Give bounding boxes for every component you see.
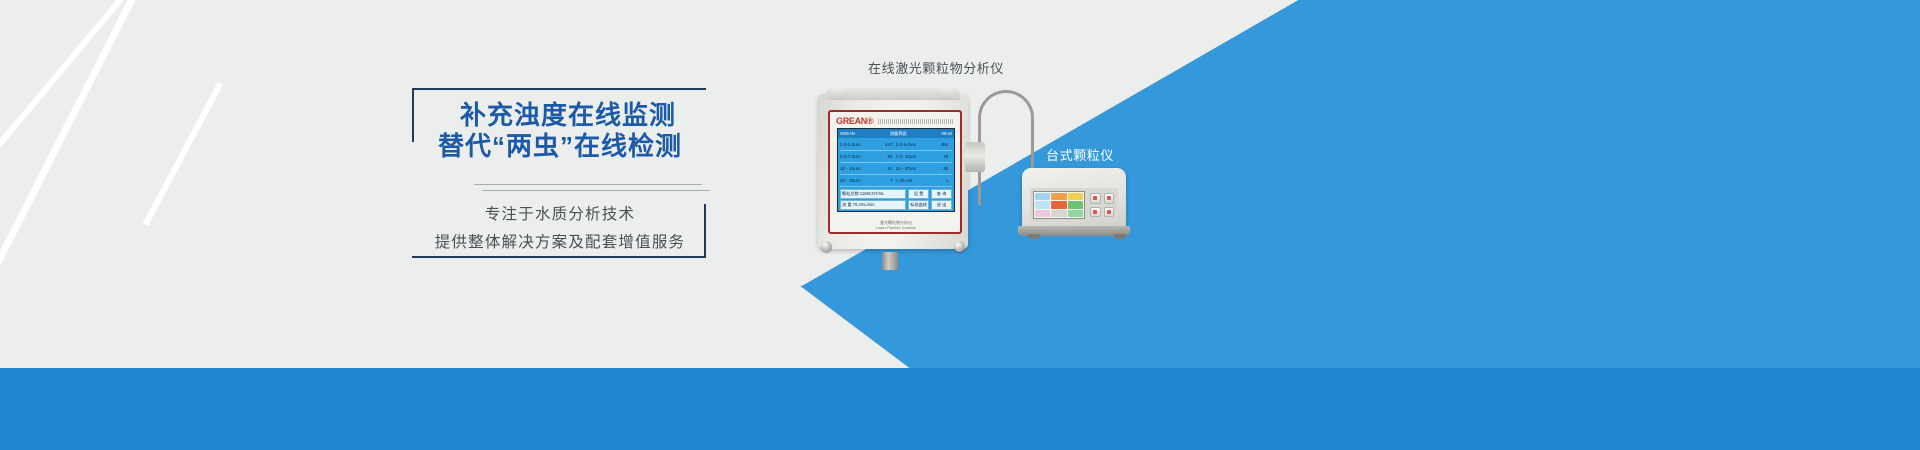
bench-screen-cell xyxy=(1068,201,1083,208)
total-count-readout: 颗粒总数:1166CNT/mL xyxy=(840,189,906,199)
cell-count-a: 447 xyxy=(874,142,896,147)
table-row: 20 - 25um 7 > 25 um 1 xyxy=(840,175,952,187)
table-row: 5.0-7.0um 94 7.0- 10um 76 xyxy=(840,151,952,163)
lcd-title-left: GREAN xyxy=(840,131,855,136)
cell-count-b: 35 xyxy=(929,166,948,171)
screw-bolt-icon xyxy=(821,241,832,252)
settings-button[interactable]: 设 置 xyxy=(908,189,929,199)
analyzer-lcd-screen[interactable]: GREAN 测量界面 09:44 2.0-3.0um 447 3.0-5.0um… xyxy=(837,128,955,212)
bench-key[interactable] xyxy=(1090,207,1101,218)
screw-bolt-icon xyxy=(954,241,965,252)
bench-foot-icon xyxy=(1114,234,1126,239)
cell-range-b: 15 - 20um xyxy=(896,166,930,171)
cell-count-a: 7 xyxy=(874,178,896,183)
divider-line-upper xyxy=(474,184,702,185)
bench-key[interactable] xyxy=(1104,193,1115,204)
bench-front-panel xyxy=(1030,188,1118,222)
analyzer-knob-icon xyxy=(830,87,846,100)
bench-lcd-screen[interactable] xyxy=(1033,191,1085,219)
bottom-blue-band xyxy=(0,368,1920,450)
page-title: 补充浊度在线监测 替代“两虫”在线检测 xyxy=(410,100,710,161)
side-port-icon xyxy=(965,142,985,172)
analyzer-knob-icon xyxy=(938,87,954,100)
bench-screen-cell xyxy=(1051,210,1066,217)
bench-foot-icon xyxy=(1028,234,1040,239)
cell-count-b: 76 xyxy=(929,154,948,159)
divider-line-lower xyxy=(482,190,710,191)
bench-screen-cell xyxy=(1035,210,1050,217)
cell-range-a: 5.0-7.0um xyxy=(840,154,874,159)
analyzer-model-label: 激光颗粒物分析仪 Laser Particle Counter xyxy=(868,220,924,230)
hero-banner: 补充浊度在线监测 替代“两虫”在线检测 专注于水质分析技术 提供整体解决方案及配… xyxy=(0,0,1920,450)
query-button[interactable]: 查 询 xyxy=(931,189,952,199)
bench-screen-cell xyxy=(1068,193,1083,200)
subtitle-line-2: 提供整体解决方案及配套增值服务 xyxy=(410,230,710,252)
bench-screen-cell xyxy=(1051,201,1066,208)
lcd-footer-row: 流 量:78.2mL/min 标准曲线 退 出 xyxy=(840,200,952,210)
title-divider xyxy=(474,184,710,191)
headline-line-1: 补充浊度在线监测 xyxy=(410,100,710,131)
table-row: 10 - 15um 52 15 - 20um 35 xyxy=(840,163,952,175)
flow-rate-readout: 流 量:78.2mL/min xyxy=(840,200,906,210)
bench-key[interactable] xyxy=(1090,193,1101,204)
bench-enclosure xyxy=(1022,168,1126,230)
cell-range-a: 2.0-3.0um xyxy=(840,142,874,147)
cell-range-a: 10 - 15um xyxy=(840,166,874,171)
lcd-footer-row: 颗粒总数:1166CNT/mL 设 置 查 询 xyxy=(840,189,952,199)
calibration-curve-button[interactable]: 标准曲线 xyxy=(908,200,929,210)
cell-range-a: 20 - 25um xyxy=(840,178,874,183)
exit-button[interactable]: 退 出 xyxy=(931,200,952,210)
lcd-title-bar: GREAN 测量界面 09:44 xyxy=(838,129,954,138)
cell-count-b: 454 xyxy=(929,142,948,147)
lcd-title-right: 09:44 xyxy=(942,131,952,136)
bench-counter-device xyxy=(1022,168,1132,246)
bench-screen-cell xyxy=(1051,193,1066,200)
table-row: 2.0-3.0um 447 3.0-5.0um 454 xyxy=(840,139,952,151)
bench-key[interactable] xyxy=(1104,207,1115,218)
bench-screen-cell xyxy=(1035,193,1050,200)
bench-screen-cell xyxy=(1035,201,1050,208)
lcd-data-table: 2.0-3.0um 447 3.0-5.0um 454 5.0-7.0um 94… xyxy=(838,138,954,188)
lcd-title-center: 测量界面 xyxy=(890,131,907,137)
cell-range-b: 7.0- 10um xyxy=(896,154,930,159)
cell-count-b: 1 xyxy=(929,178,948,183)
headline-line-2: 替代“两虫”在线检测 xyxy=(410,131,710,162)
analyzer-front-panel: GREAN® GREAN 测量界面 09:44 2.0-3.0um 447 3.… xyxy=(828,110,962,234)
cell-range-b: > 25 um xyxy=(896,178,930,183)
callout-online-analyzer: 在线激光颗粒物分析仪 xyxy=(868,58,1004,77)
lcd-footer: 颗粒总数:1166CNT/mL 设 置 查 询 流 量:78.2mL/min 标… xyxy=(840,189,952,210)
bench-keypad[interactable] xyxy=(1090,193,1114,217)
hero-text-block: 补充浊度在线监测 替代“两虫”在线检测 专注于水质分析技术 提供整体解决方案及配… xyxy=(412,88,704,256)
online-analyzer-device: GREAN® GREAN 测量界面 09:44 2.0-3.0um 447 3.… xyxy=(818,86,968,258)
vent-grille-icon xyxy=(878,119,954,124)
cell-count-a: 52 xyxy=(874,166,896,171)
cell-range-b: 3.0-5.0um xyxy=(896,142,930,147)
analyzer-model-label-en: Laser Particle Counter xyxy=(868,225,924,230)
cell-count-a: 94 xyxy=(874,154,896,159)
subtitle-line-1: 专注于水质分析技术 xyxy=(410,202,710,224)
cable-gland-icon xyxy=(882,252,898,270)
brand-logo: GREAN® xyxy=(836,116,873,126)
bench-screen-cell xyxy=(1068,210,1083,217)
